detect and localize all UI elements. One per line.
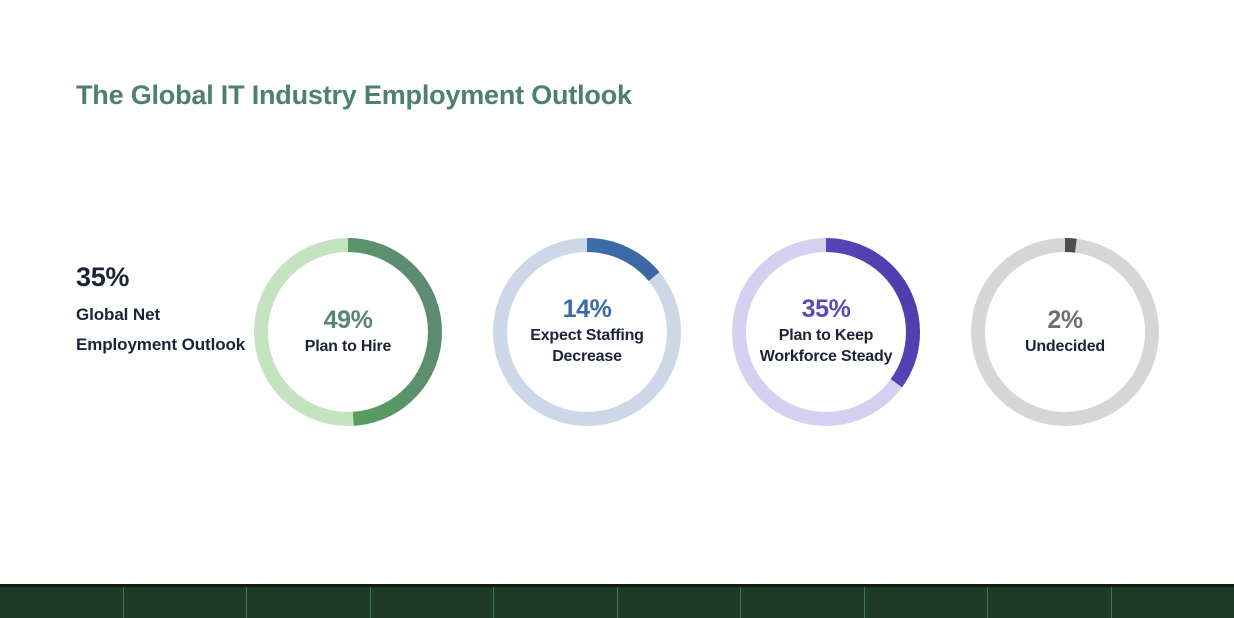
donut-chart: 35%Plan to Keep Workforce Steady xyxy=(732,238,920,426)
band-segment xyxy=(371,587,495,618)
band-segment xyxy=(1112,587,1234,618)
donut-chart: 49%Plan to Hire xyxy=(254,238,442,426)
donut-chart: 2%Undecided xyxy=(971,238,1159,426)
band-segment xyxy=(865,587,989,618)
donut-ring xyxy=(732,238,920,426)
donut-ring xyxy=(971,238,1159,426)
donut-ring xyxy=(493,238,681,426)
band-segment xyxy=(618,587,742,618)
donut-chart: 14%Expect Staffing Decrease xyxy=(493,238,681,426)
page-title: The Global IT Industry Employment Outloo… xyxy=(76,80,632,111)
summary-value: 35% xyxy=(76,262,256,294)
band-segment xyxy=(988,587,1112,618)
donut-track xyxy=(978,245,1152,419)
band-segment xyxy=(124,587,248,618)
donut-ring xyxy=(254,238,442,426)
band-segment xyxy=(247,587,371,618)
footer-band xyxy=(0,584,1234,618)
summary-block: 35% Global Net Employment Outlook xyxy=(76,262,256,360)
band-segment xyxy=(494,587,618,618)
band-segment xyxy=(0,587,124,618)
donut-chart-row: 49%Plan to Hire14%Expect Staffing Decrea… xyxy=(254,238,1159,428)
slide-canvas: The Global IT Industry Employment Outloo… xyxy=(0,0,1234,618)
summary-label: Global Net Employment Outlook xyxy=(76,300,256,361)
band-segment xyxy=(741,587,865,618)
